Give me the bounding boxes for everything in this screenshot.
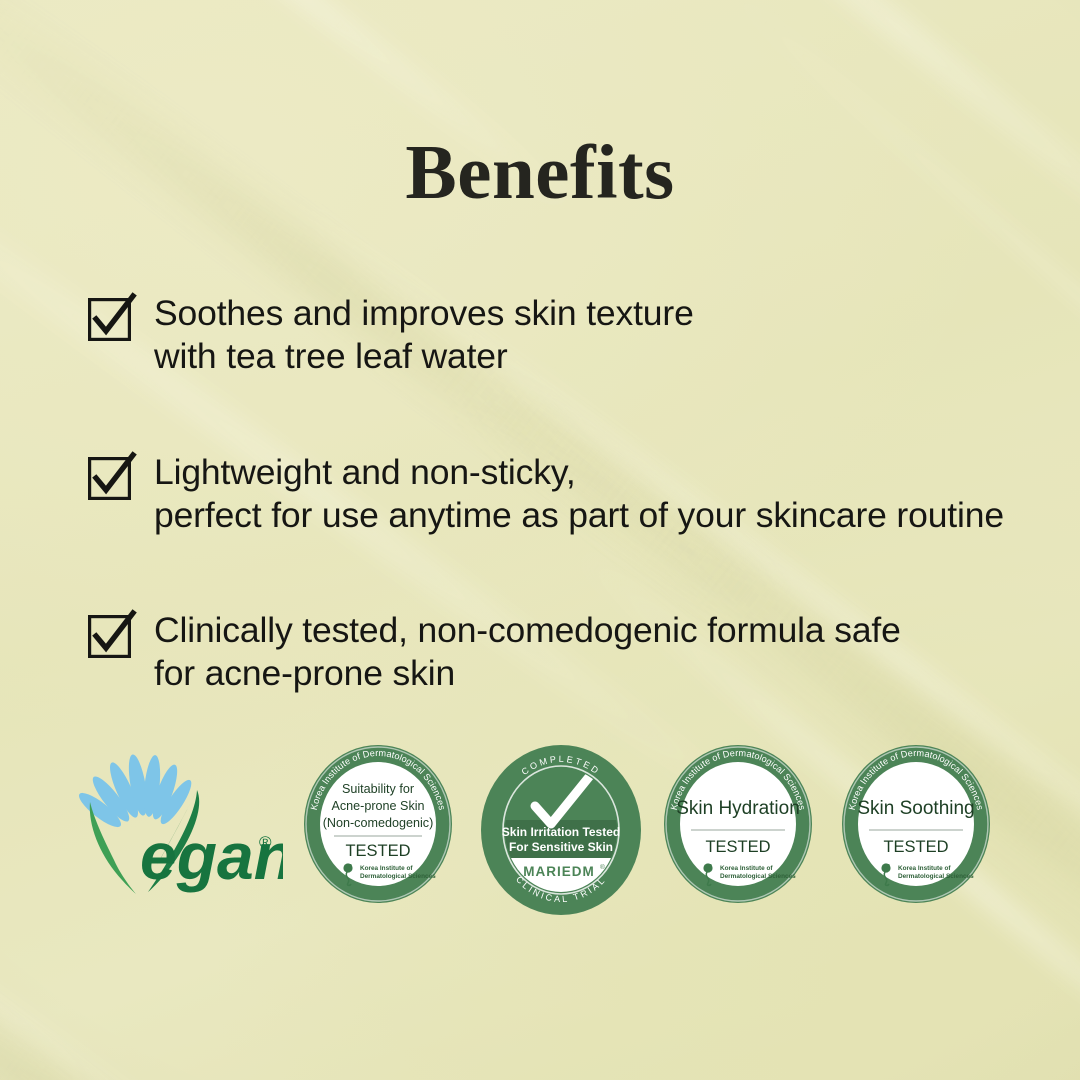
seal-line-1: Skin Hydration bbox=[676, 798, 800, 819]
benefit-text: Clinically tested, non-comedogenic formu… bbox=[154, 609, 901, 696]
benefit-item: Lightweight and non-sticky, perfect for … bbox=[88, 451, 1028, 538]
page-title: Benefits bbox=[0, 128, 1080, 217]
vegan-registered-mark: ® bbox=[259, 833, 272, 852]
seal-skin-hydration: Korea Institute of Dermatological Scienc… bbox=[658, 742, 818, 905]
seal-footer-line-1: Korea Institute of bbox=[360, 865, 413, 872]
seal-brand: MARIEDM bbox=[523, 864, 595, 879]
benefits-list: Soothes and improves skin texture with t… bbox=[88, 292, 1028, 696]
benefit-item: Clinically tested, non-comedogenic formu… bbox=[88, 609, 1028, 696]
seal-skin-irritation: COMPLETED CLINICAL TRIAL Skin Irritation… bbox=[475, 742, 647, 917]
seal-status: TESTED bbox=[705, 838, 770, 856]
seal-line-1: Skin Soothing bbox=[857, 798, 974, 819]
seal-footer-line-2: Dermatological Sciences bbox=[720, 873, 796, 880]
seal-status: TESTED bbox=[883, 838, 948, 856]
benefit-item: Soothes and improves skin texture with t… bbox=[88, 292, 1028, 379]
vegan-certification-logo: egan ® bbox=[78, 750, 283, 908]
checked-checkbox-icon bbox=[88, 298, 131, 341]
checked-checkbox-icon bbox=[88, 457, 131, 500]
seal-brand-mark: ® bbox=[600, 863, 605, 871]
benefits-poster: Benefits Soothes and improves skin textu… bbox=[0, 0, 1080, 1080]
seal-footer-line-2: Dermatological Sciences bbox=[898, 873, 974, 880]
seal-line-1: Suitability for bbox=[342, 782, 414, 796]
seal-acne-prone: Korea Institute of Dermatological Scienc… bbox=[298, 742, 458, 905]
certification-badge-strip: egan ® Korea Institute of Dermatological… bbox=[0, 742, 1080, 917]
seal-status: TESTED bbox=[345, 842, 410, 860]
seal-line-3: (Non-comedogenic) bbox=[323, 816, 434, 830]
seal-line-1: Skin Irritation Tested bbox=[502, 825, 620, 839]
seal-footer-line-1: Korea Institute of bbox=[898, 865, 951, 872]
seal-line-2: For Sensitive Skin bbox=[509, 840, 613, 854]
benefit-text: Lightweight and non-sticky, perfect for … bbox=[154, 451, 1004, 538]
seal-footer-line-1: Korea Institute of bbox=[720, 865, 773, 872]
benefit-text: Soothes and improves skin texture with t… bbox=[154, 292, 694, 379]
vegan-wordmark: egan bbox=[140, 819, 283, 893]
seal-footer-line-2: Dermatological Sciences bbox=[360, 873, 436, 880]
seal-skin-soothing: Korea Institute of Dermatological Scienc… bbox=[836, 742, 996, 905]
checked-checkbox-icon bbox=[88, 615, 131, 658]
seal-line-2: Acne-prone Skin bbox=[331, 799, 424, 813]
